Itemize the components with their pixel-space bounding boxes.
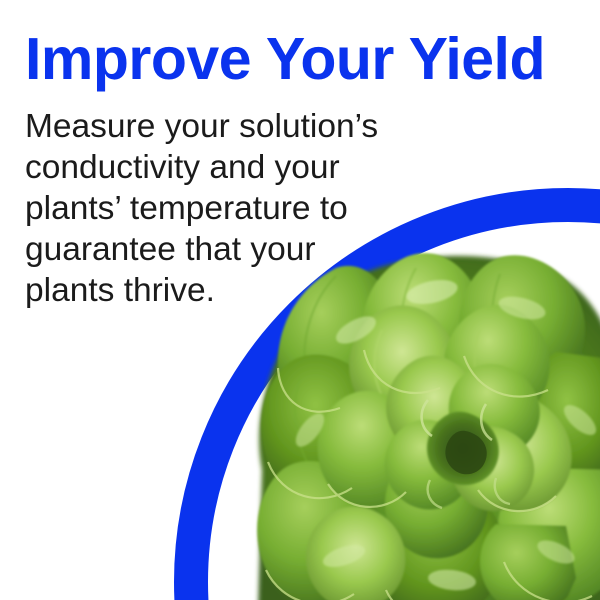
body-line-3: plants’ temperature to [25,188,365,229]
body-line-5: plants thrive. [25,270,365,311]
body-line-1: Measure your solution’s [25,106,365,147]
lettuce-highlights [291,276,600,593]
body-line-4: guarantee that your [25,229,365,270]
body-line-2: conductivity and your [25,147,365,188]
page-title: Improve Your Yield [25,28,445,90]
lettuce-leaf-edges [266,350,592,600]
lettuce-middle-leaves [306,305,576,600]
text-block: Improve Your Yield Measure your solution… [25,28,445,311]
lettuce-inner-heart [385,356,540,511]
body-copy: Measure your solution’s conductivity and… [25,106,365,311]
promo-card: Improve Your Yield Measure your solution… [0,0,600,600]
